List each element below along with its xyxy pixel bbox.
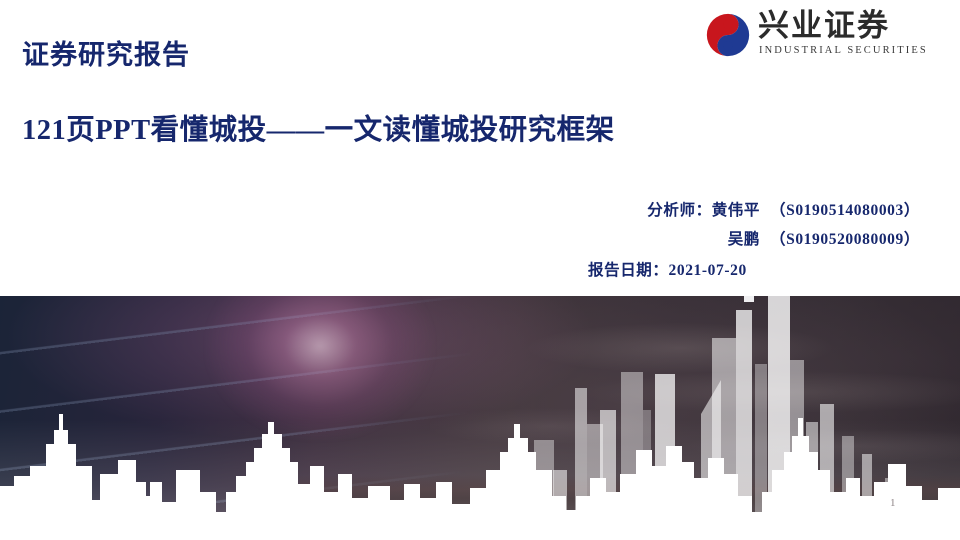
xingye-swirl-logo-icon	[705, 12, 751, 58]
photo-tower-overhang	[744, 296, 754, 302]
skyline-silhouette	[0, 400, 960, 540]
logo-name-en: INDUSTRIAL SECURITIES	[759, 45, 928, 56]
analyst-row: 分析师：黄伟平 （S0190514080003）	[560, 198, 952, 227]
logo-name-cn: 兴业证券	[758, 9, 890, 43]
company-logo: 兴业证券 INDUSTRIAL SECURITIES	[700, 10, 950, 66]
analyst-name: 吴鹏	[560, 227, 770, 249]
report-kicker: 证券研究报告	[22, 33, 190, 72]
page-title: 121页PPT看懂城投——一文读懂城投研究框架	[22, 107, 615, 148]
page-number: 1	[890, 497, 896, 509]
report-cover-slide: 兴业证券 INDUSTRIAL SECURITIES 证券研究报告 121页PP…	[0, 0, 960, 540]
analyst-license: （S0190514080003）	[770, 198, 920, 220]
report-date: 报告日期：2021-07-20	[560, 258, 952, 280]
cover-photo	[0, 296, 960, 540]
analyst-license: （S0190520080009）	[770, 227, 920, 249]
analyst-name: 分析师：黄伟平	[560, 198, 770, 220]
analyst-row: 吴鹏 （S0190520080009）	[560, 227, 952, 256]
analyst-meta: 分析师：黄伟平 （S0190514080003） 吴鹏 （S0190520080…	[560, 198, 952, 280]
